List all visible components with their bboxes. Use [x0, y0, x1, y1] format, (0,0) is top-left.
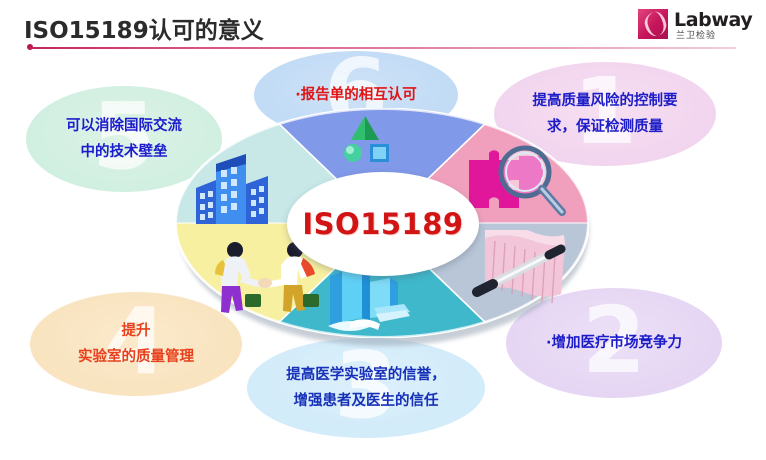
callout-text-2: ·增加医疗市场竞争力	[540, 330, 688, 356]
callout-bubble-3: 3 提高医学实验室的信誉， 增强患者及医生的信任	[247, 338, 485, 438]
callout-text-4: 提升 实验室的质量管理	[72, 318, 200, 370]
page-title: ISO15189认可的意义	[24, 11, 264, 45]
callout-text-6: ·报告单的相互认可	[289, 82, 423, 108]
center-label: ISO15189	[302, 207, 463, 241]
labway-logo: Labway 兰卫检验	[638, 9, 750, 45]
logo-wordmark: Labway	[674, 10, 752, 30]
donut-diagram: ISO15189	[175, 108, 593, 348]
slide-header: ISO15189认可的意义 Labway 兰卫检验	[0, 0, 766, 56]
slide-canvas: ISO15189认可的意义 Labway 兰卫检验 5 可以消除国际交流 中的技…	[0, 0, 766, 460]
title-divider	[30, 47, 736, 49]
donut-center-hole: ISO15189	[287, 172, 479, 276]
labway-logo-mark-icon	[638, 9, 668, 39]
callout-text-5: 可以消除国际交流 中的技术壁垒	[60, 113, 188, 165]
callout-text-1: 提高质量风险的控制要 求，保证检测质量	[527, 88, 684, 140]
logo-subtext: 兰卫检验	[676, 31, 716, 41]
callout-text-3: 提高医学实验室的信誉， 增强患者及医生的信任	[280, 362, 452, 414]
